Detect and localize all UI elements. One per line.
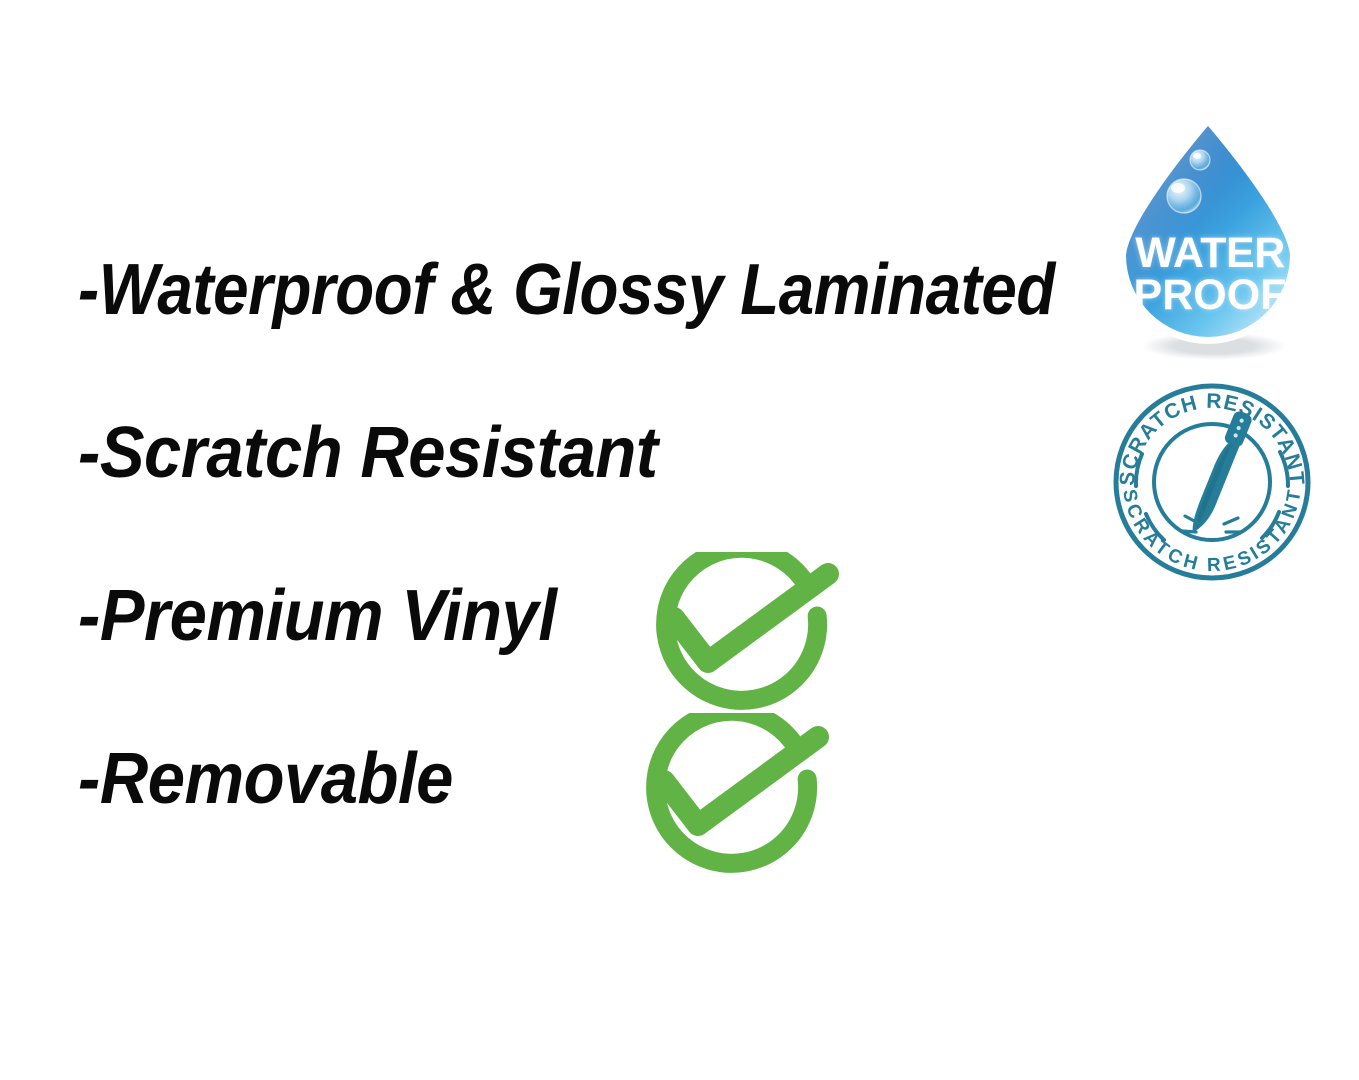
feature-item-removable: -Removable: [78, 741, 1088, 904]
feature-label-scratch-resistant: -Scratch Resistant: [78, 415, 658, 491]
check-circle-icon-premium-vinyl: [632, 552, 842, 717]
knife-icon: [1187, 410, 1253, 538]
check-circle-icon-removable: [622, 713, 832, 883]
feature-highlight-page: -Waterproof & Glossy Laminated -Scratch …: [0, 0, 1359, 1080]
feature-item-waterproof-glossy-laminated: -Waterproof & Glossy Laminated: [78, 252, 1088, 415]
feature-list: -Waterproof & Glossy Laminated -Scratch …: [78, 252, 1088, 904]
knife-stamp-icon: SCRATCH RESISTANT SCRATCH RESISTANT: [1112, 382, 1312, 582]
bubble-large-icon: [1167, 179, 1201, 213]
feature-label-removable: -Removable: [78, 741, 453, 817]
scratch-resistant-badge: SCRATCH RESISTANT SCRATCH RESISTANT: [1112, 382, 1312, 582]
scratch-marks-icon: [1182, 516, 1241, 532]
feature-label-premium-vinyl: -Premium Vinyl: [78, 578, 556, 654]
waterproof-badge: WATER PROOF: [1098, 108, 1322, 362]
feature-item-premium-vinyl: -Premium Vinyl: [78, 578, 1088, 741]
feature-label-waterproof-glossy-laminated: -Waterproof & Glossy Laminated: [78, 252, 1055, 328]
water-drop-icon: [1098, 108, 1322, 362]
feature-item-scratch-resistant: -Scratch Resistant: [78, 415, 1088, 578]
bubble-small-icon: [1190, 150, 1210, 170]
